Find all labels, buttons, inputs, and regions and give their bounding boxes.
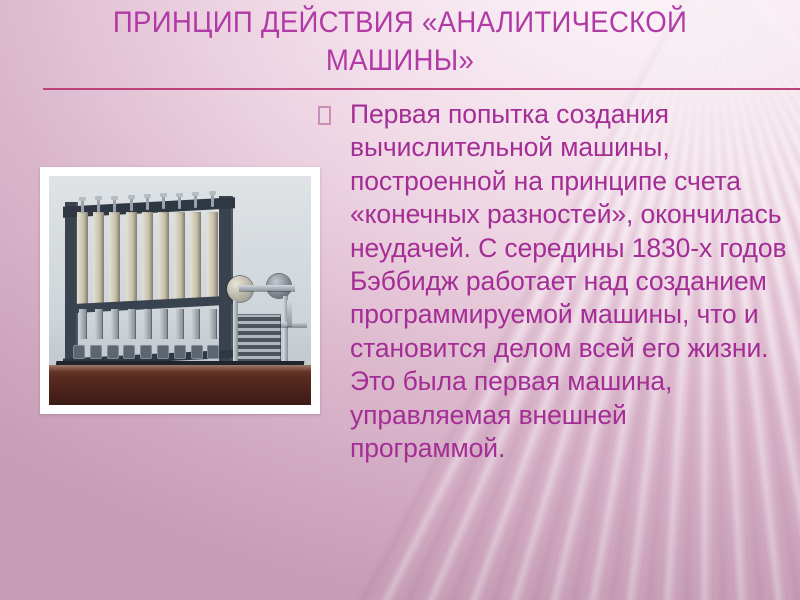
bullet-list-item: Первая попытка создания вычислительной м… xyxy=(318,98,788,465)
machine-crank-arm xyxy=(287,300,292,326)
machine-drive-shaft xyxy=(239,285,295,291)
tofu-box-bullet-icon xyxy=(318,106,331,125)
machine-photo xyxy=(49,176,311,405)
machine-photo-frame xyxy=(40,167,320,414)
slide: Принцип действия «Аналитической машины» xyxy=(0,0,800,600)
page-title: Принцип действия «Аналитической машины» xyxy=(72,4,727,80)
body-paragraph: Первая попытка создания вычислительной м… xyxy=(350,98,788,465)
machine-wooden-plinth xyxy=(49,365,311,405)
machine-gear-bank xyxy=(73,341,229,363)
machine-number-wheel-columns xyxy=(77,212,223,304)
machine-crank-handle xyxy=(281,322,307,327)
title-divider xyxy=(43,88,800,90)
content-body: Первая попытка создания вычислительной м… xyxy=(318,98,788,465)
machine-lever-bank xyxy=(79,309,225,339)
page-title-text: Принцип действия «Аналитической машины» xyxy=(113,6,687,77)
